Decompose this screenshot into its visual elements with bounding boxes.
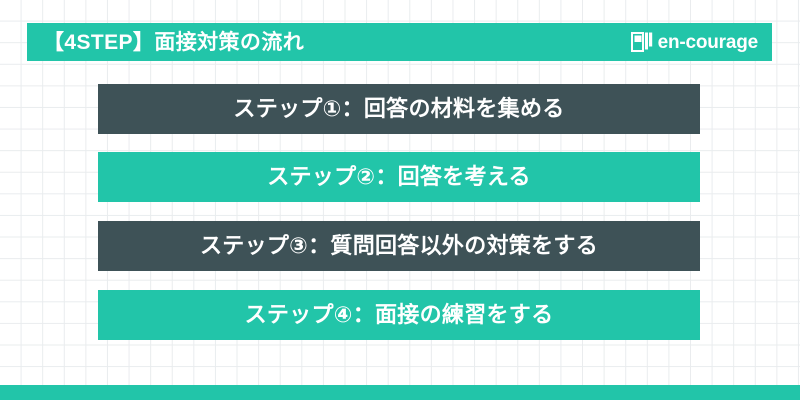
step-bar-3: ステップ③：質問回答以外の対策をする	[98, 221, 700, 271]
footer-accent-bar	[0, 385, 800, 400]
step-bar-4: ステップ④：面接の練習をする	[98, 290, 700, 340]
step-label-2: ステップ②：回答を考える	[267, 166, 531, 188]
step-bar-1: ステップ①：回答の材料を集める	[98, 84, 700, 134]
page-title: 【4STEP】面接対策の流れ	[43, 32, 304, 53]
book-icon	[631, 32, 653, 53]
step-label-1: ステップ①：回答の材料を集める	[233, 98, 564, 120]
brand-name: en-courage	[658, 33, 758, 52]
slide-canvas: 【4STEP】面接対策の流れ en-courage ステップ①：回答の材料を集め…	[0, 0, 800, 400]
step-bar-2: ステップ②：回答を考える	[98, 152, 700, 202]
step-label-3: ステップ③：質問回答以外の対策をする	[200, 235, 598, 257]
step-label-4: ステップ④：面接の練習をする	[245, 304, 554, 326]
brand-logo: en-courage	[631, 32, 758, 53]
header-bar: 【4STEP】面接対策の流れ en-courage	[27, 23, 772, 61]
